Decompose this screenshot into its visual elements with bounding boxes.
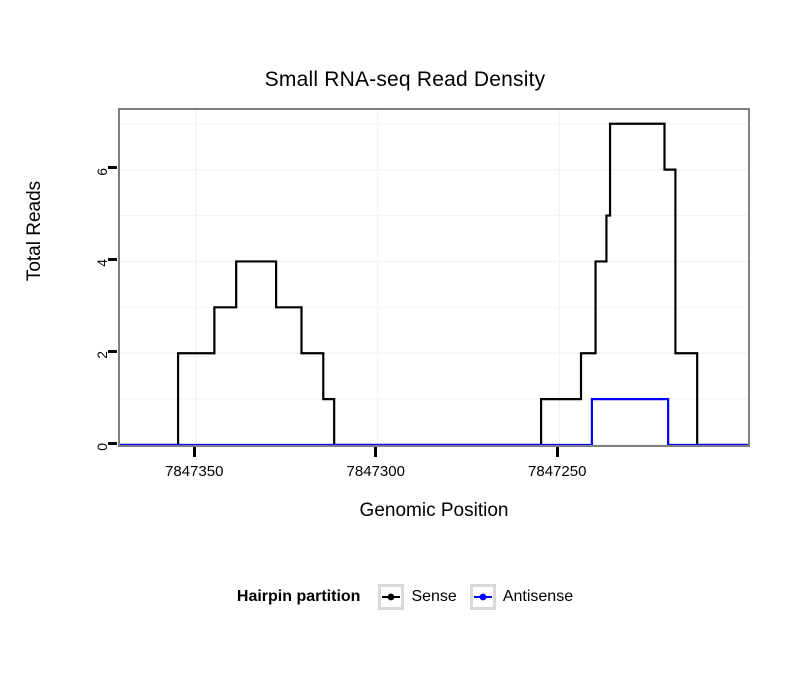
legend: Hairpin partition Sense Antisense bbox=[0, 584, 810, 610]
x-tick-label: 7847350 bbox=[134, 463, 254, 480]
y-axis-label: Total Reads bbox=[24, 141, 46, 321]
x-tick-mark bbox=[193, 447, 196, 457]
legend-label-sense: Sense bbox=[411, 588, 456, 606]
plot-panel bbox=[118, 108, 750, 447]
legend-key-sense-icon bbox=[378, 584, 404, 610]
y-tick-label: 2 bbox=[94, 351, 110, 391]
legend-key-antisense-icon bbox=[470, 584, 496, 610]
x-tick-mark bbox=[374, 447, 377, 457]
chart-container: Small RNA-seq Read Density Total Reads 0… bbox=[0, 0, 810, 690]
series-line-sense bbox=[120, 124, 748, 445]
x-tick-label: 7847300 bbox=[316, 463, 436, 480]
chart-title: Small RNA-seq Read Density bbox=[0, 68, 810, 92]
legend-title: Hairpin partition bbox=[237, 588, 361, 606]
y-tick-label: 0 bbox=[94, 443, 110, 483]
y-tick-label: 6 bbox=[94, 168, 110, 208]
x-tick-label: 7847250 bbox=[497, 463, 617, 480]
plot-area bbox=[120, 110, 748, 445]
x-tick-mark bbox=[556, 447, 559, 457]
x-axis-label: Genomic Position bbox=[118, 500, 750, 522]
legend-entry-sense[interactable]: Sense bbox=[378, 584, 456, 610]
y-tick-label: 4 bbox=[94, 259, 110, 299]
legend-label-antisense: Antisense bbox=[503, 588, 573, 606]
legend-entry-antisense[interactable]: Antisense bbox=[470, 584, 573, 610]
series-line-antisense bbox=[120, 399, 748, 445]
